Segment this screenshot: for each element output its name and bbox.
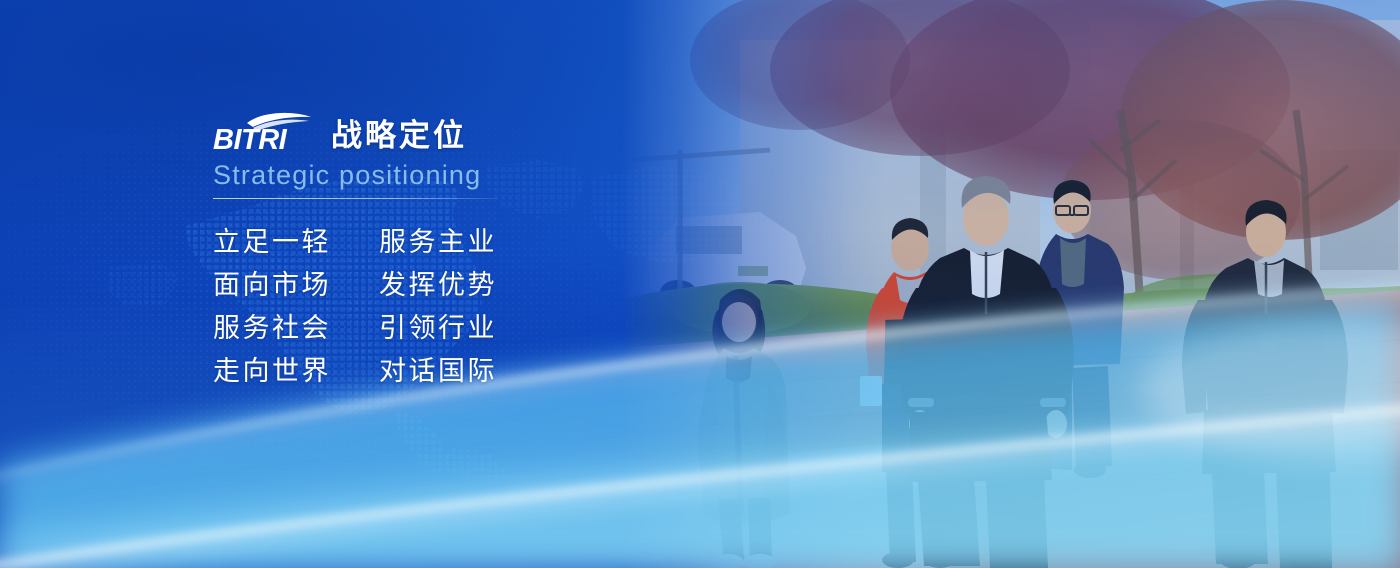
slogan-left: 面向市场 [213, 264, 337, 307]
slogan-left: 服务社会 [213, 307, 337, 350]
slogan-list: 立足一轻 服务主业 面向市场 发挥优势 服务社会 引领行业 走向世界 对话国际 [213, 221, 773, 393]
slogan-left: 立足一轻 [213, 221, 337, 264]
slogan-row: 立足一轻 服务主业 [213, 221, 773, 264]
brand-title-row: BITRI 战略定位 [213, 108, 773, 154]
slogan-left: 走向世界 [213, 350, 337, 393]
slogan-row: 服务社会 引领行业 [213, 307, 773, 350]
slogan-right: 引领行业 [379, 307, 503, 350]
slogan-right: 发挥优势 [379, 264, 503, 307]
banner-text-block: BITRI 战略定位 Strategic positioning 立足一轻 服务… [213, 108, 773, 393]
strategic-positioning-banner: BITRI 战略定位 Strategic positioning 立足一轻 服务… [0, 0, 1400, 568]
slogan-row: 走向世界 对话国际 [213, 350, 773, 393]
svg-text:BITRI: BITRI [213, 124, 288, 154]
title-divider [213, 198, 497, 199]
slogan-right: 服务主业 [379, 221, 503, 264]
slogan-right: 对话国际 [379, 350, 503, 393]
subtitle-english: Strategic positioning [213, 158, 773, 192]
title-chinese: 战略定位 [331, 119, 467, 154]
bitri-logo[interactable]: BITRI [213, 110, 317, 154]
slogan-row: 面向市场 发挥优势 [213, 264, 773, 307]
